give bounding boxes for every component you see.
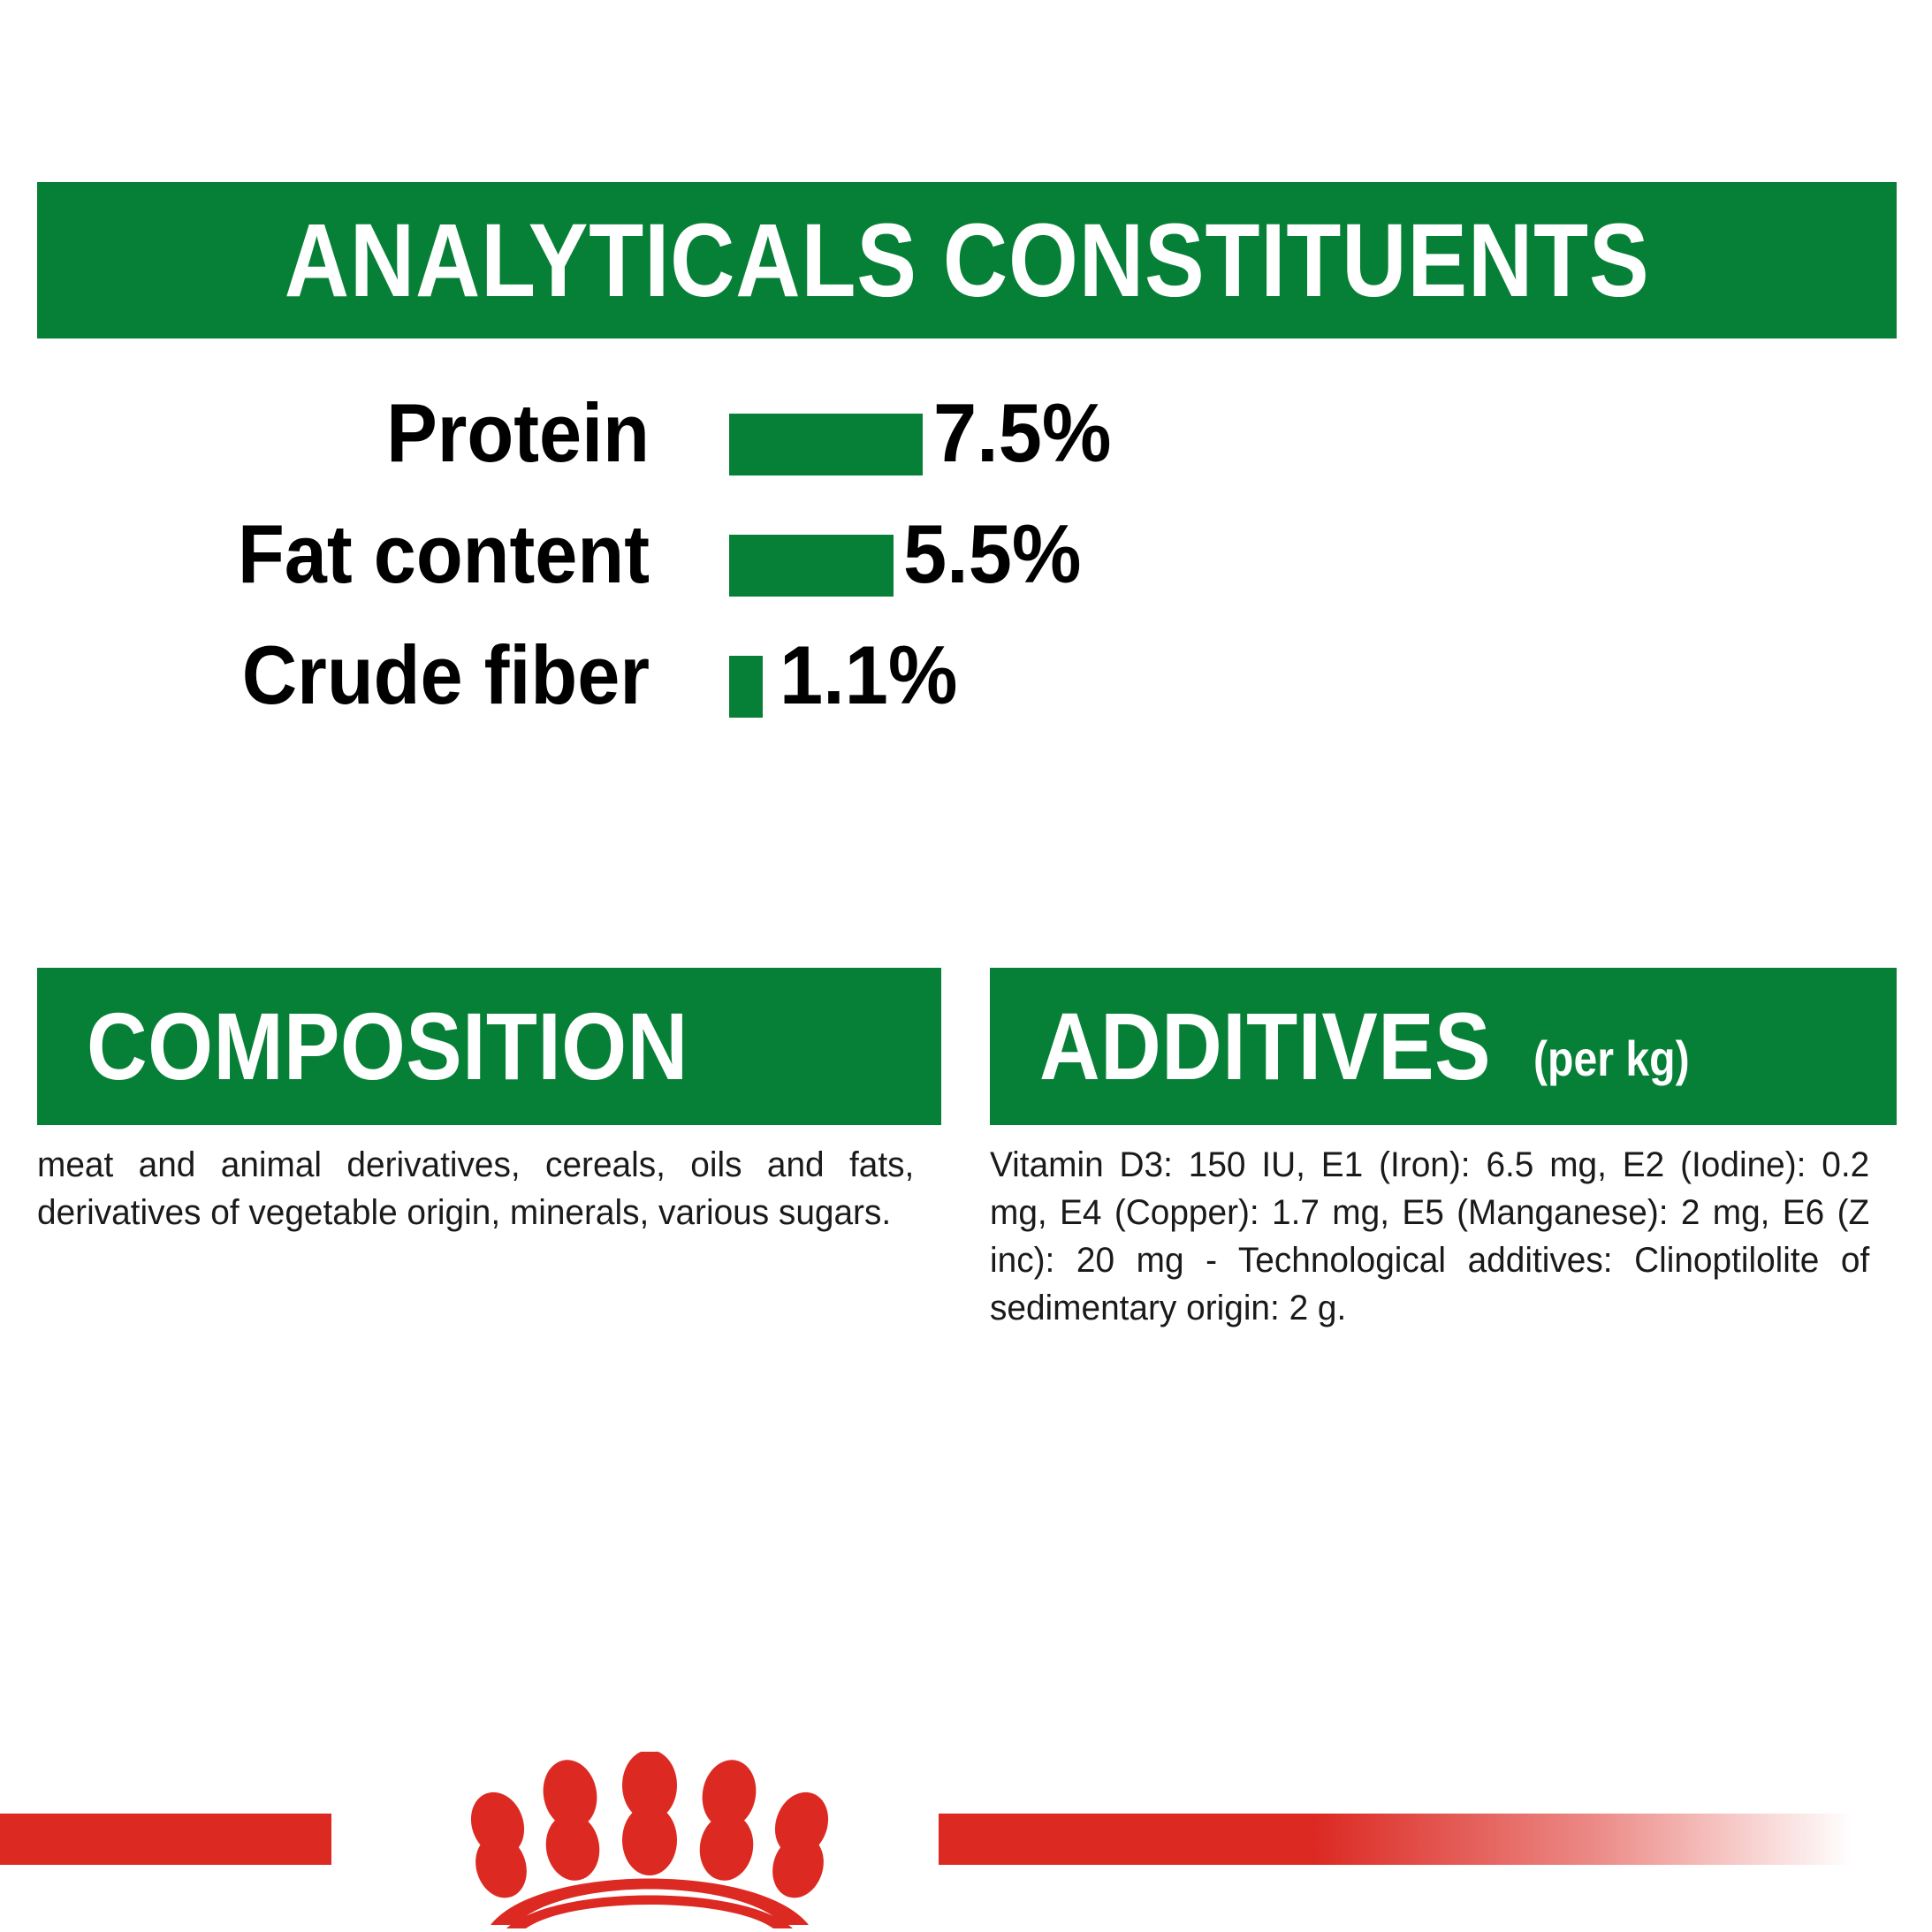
analyticals-value-fat-content: 5.5%: [903, 510, 1081, 598]
additives-heading-suffix: (per kg): [1533, 1034, 1690, 1084]
analyticals-label-fat-content: Fat content: [0, 510, 650, 598]
additives-heading: ADDITIVES: [1039, 999, 1491, 1094]
footer-rule-left: [0, 1814, 331, 1865]
composition-body: meat and animal derivatives, cereals, oi…: [37, 1141, 914, 1236]
additives-header: ADDITIVES (per kg): [990, 968, 1897, 1125]
page-title: ANALYTICALS CONSTITUENTS: [285, 209, 1650, 313]
composition-section: COMPOSITION meat and animal derivatives,…: [37, 968, 941, 1236]
analyticals-bar-protein: [729, 414, 923, 475]
composition-heading: COMPOSITION: [87, 999, 688, 1094]
analyticals-bar-fat-content: [729, 535, 894, 597]
royal-canin-crown-logo: [358, 1752, 941, 1928]
analyticals-label-crude-fiber: Crude fiber: [0, 631, 650, 719]
analyticals-row: Crude fiber 1.1%: [0, 631, 1932, 752]
nutrition-panel: ANALYTICALS CONSTITUENTS Protein 7.5% Fa…: [0, 0, 1932, 1932]
additives-section: ADDITIVES (per kg) Vitamin D3: 150 IU, E…: [990, 968, 1897, 1332]
analyticals-value-crude-fiber: 1.1%: [780, 631, 957, 719]
analyticals-row: Fat content 5.5%: [0, 510, 1932, 631]
analyticals-chart: Protein 7.5% Fat content 5.5% Crude fibe…: [0, 389, 1932, 752]
analyticals-row: Protein 7.5%: [0, 389, 1932, 510]
analyticals-bar-crude-fiber: [729, 656, 763, 718]
additives-body: Vitamin D3: 150 IU, E1 (Iron): 6.5 mg, E…: [990, 1141, 1869, 1332]
footer: [0, 1729, 1932, 1932]
analyticals-banner: ANALYTICALS CONSTITUENTS: [37, 182, 1897, 338]
analyticals-value-protein: 7.5%: [933, 389, 1111, 477]
composition-header: COMPOSITION: [37, 968, 941, 1125]
analyticals-label-protein: Protein: [0, 389, 650, 477]
footer-rule-right: [939, 1814, 1932, 1865]
